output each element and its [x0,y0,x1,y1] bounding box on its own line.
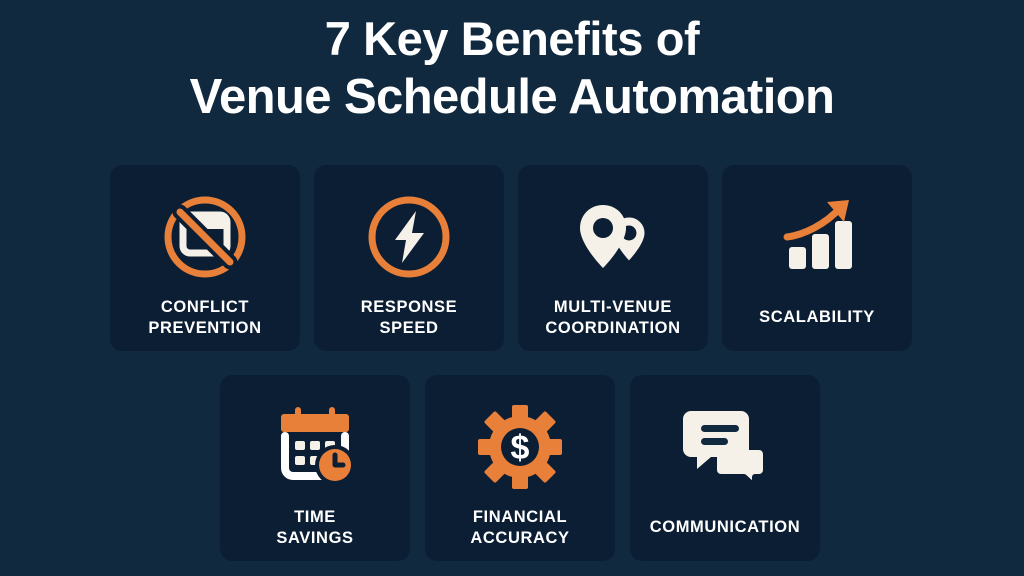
benefit-label: RESPONSE SPEED [355,297,464,339]
benefit-card-response-speed[interactable]: RESPONSE SPEED [314,165,504,351]
benefit-label: MULTI-VENUE COORDINATION [539,297,686,339]
benefit-card-scalability[interactable]: SCALABILITY [722,165,912,351]
page-title: 7 Key Benefits of Venue Schedule Automat… [0,10,1024,126]
benefit-card-time-savings[interactable]: TIME SAVINGS [220,375,410,561]
benefit-row-bottom: TIME SAVINGS [220,375,820,561]
benefit-card-financial-accuracy[interactable]: $ FINANCIAL ACCURACY [425,375,615,561]
svg-text:$: $ [511,429,530,467]
benefit-card-multi-venue-coordination[interactable]: MULTI-VENUE COORDINATION [518,165,708,351]
map-pins-icon [561,187,665,287]
benefit-label: FINANCIAL ACCURACY [464,507,575,549]
benefit-label: TIME SAVINGS [270,507,359,549]
title-line-1: 7 Key Benefits of [0,10,1024,68]
no-conflict-calendar-icon [153,187,257,287]
title-line-2: Venue Schedule Automation [0,68,1024,126]
benefit-card-communication[interactable]: COMMUNICATION [630,375,820,561]
infographic-canvas: 7 Key Benefits of Venue Schedule Automat… [0,0,1024,576]
benefit-row-top: CONFLICT PREVENTION RESPONSE SPEED [110,165,912,351]
growth-bar-chart-arrow-icon [765,187,869,287]
lightning-bolt-in-circle-icon [357,187,461,287]
speech-bubbles-icon [673,397,777,497]
gear-dollar-icon: $ [468,397,572,497]
calendar-clock-icon [263,397,367,497]
benefit-card-conflict-prevention[interactable]: CONFLICT PREVENTION [110,165,300,351]
benefit-label: COMMUNICATION [644,517,806,538]
benefit-label: SCALABILITY [753,307,881,328]
benefit-label: CONFLICT PREVENTION [142,297,267,339]
